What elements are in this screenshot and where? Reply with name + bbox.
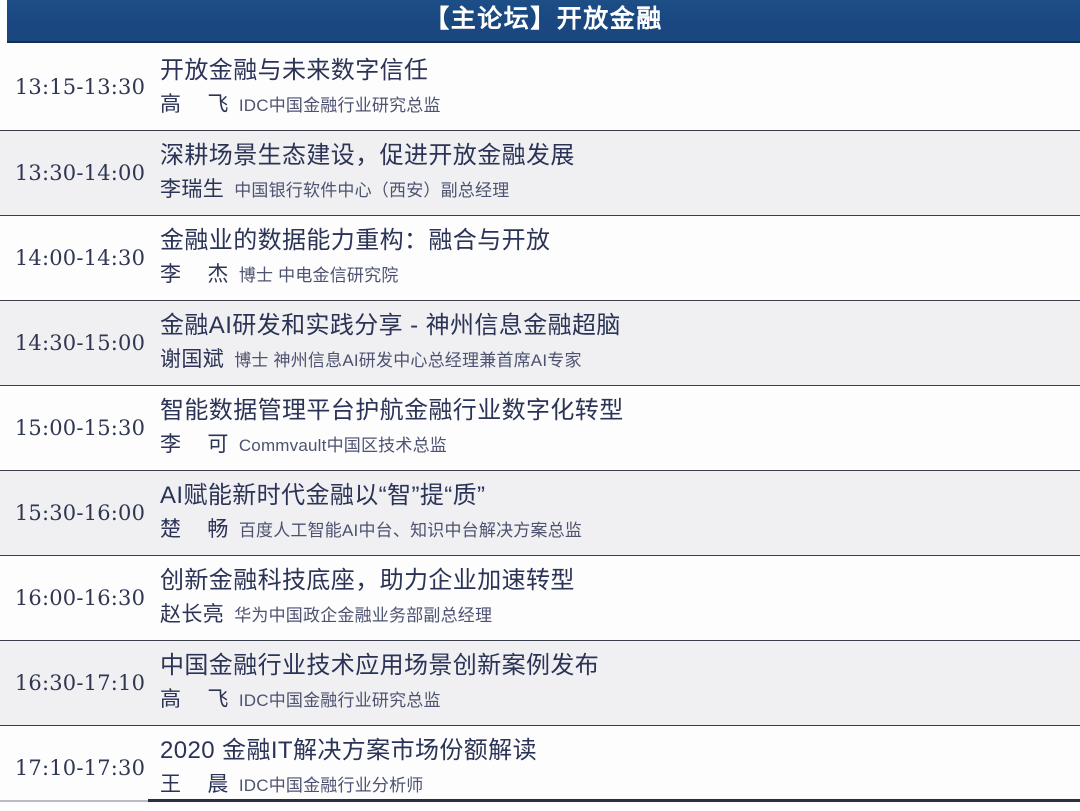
session-people: 李瑞生中国银行软件中心（西安）副总经理 [160,173,1080,203]
speaker-affiliation: 博士 神州信息AI研发中心总经理兼首席AI专家 [234,346,581,371]
speaker-givenname: 飞 [207,93,228,116]
footer-rule-left [0,800,148,802]
agenda-row: 15:00-15:30智能数据管理平台护航金融行业数字化转型李可Commvaul… [0,385,1080,470]
session-info-cell: 金融AI研发和实践分享 - 神州信息金融超脑谢国斌博士 神州信息AI研发中心总经… [160,300,1080,385]
session-info-cell: 中国金融行业技术应用场景创新案例发布高飞IDC中国金融行业研究总监 [160,640,1080,725]
speaker-surname: 楚 [160,518,181,541]
speaker-givenname: 飞 [207,688,228,711]
session-title: AI赋能新时代金融以“智”提“质” [160,482,1080,510]
session-time: 13:15-13:30 [15,75,145,99]
session-time-cell: 13:30-14:00 [0,130,160,215]
speaker-name: 楚畅 [160,513,229,543]
session-people: 李杰博士 中电金信研究院 [160,258,1080,288]
forum-banner-bar: 【主论坛】开放金融 [7,0,1080,43]
agenda-page: 【主论坛】开放金融 13:15-13:30开放金融与未来数字信任高飞IDC中国金… [0,0,1080,811]
speaker-name: 高飞 [160,88,229,118]
speaker-affiliation: 百度人工智能AI中台、知识中台解决方案总监 [239,516,582,541]
speaker-givenname: 杰 [207,263,228,286]
session-time: 15:00-15:30 [15,416,145,440]
session-title: 金融业的数据能力重构：融合与开放 [160,227,1080,255]
session-title: 创新金融科技底座，助力企业加速转型 [160,567,1080,595]
session-title: 深耕场景生态建设，促进开放金融发展 [160,142,1080,170]
speaker-affiliation: IDC中国金融行业分析师 [239,771,424,796]
agenda-row: 13:15-13:30开放金融与未来数字信任高飞IDC中国金融行业研究总监 [0,45,1080,130]
session-people: 赵长亮华为中国政企金融业务部副总经理 [160,598,1080,628]
session-title: 智能数据管理平台护航金融行业数字化转型 [160,397,1080,425]
agenda-table-body: 13:15-13:30开放金融与未来数字信任高飞IDC中国金融行业研究总监13:… [0,45,1080,810]
session-people: 谢国斌博士 神州信息AI研发中心总经理兼首席AI专家 [160,343,1080,373]
session-time: 14:00-14:30 [15,246,145,270]
session-time-cell: 15:30-16:00 [0,470,160,555]
agenda-table: 13:15-13:30开放金融与未来数字信任高飞IDC中国金融行业研究总监13:… [0,45,1080,810]
session-time-cell: 17:10-17:30 [0,725,160,810]
speaker-name: 赵长亮 [160,598,224,628]
forum-banner: 【主论坛】开放金融 [0,0,1080,45]
speaker-affiliation: IDC中国金融行业研究总监 [239,686,441,711]
agenda-row: 14:00-14:30金融业的数据能力重构：融合与开放李杰博士 中电金信研究院 [0,215,1080,300]
session-time: 17:10-17:30 [15,756,145,780]
speaker-name: 高飞 [160,683,229,713]
agenda-row: 16:30-17:10中国金融行业技术应用场景创新案例发布高飞IDC中国金融行业… [0,640,1080,725]
session-info-cell: 创新金融科技底座，助力企业加速转型赵长亮华为中国政企金融业务部副总经理 [160,555,1080,640]
speaker-name: 李可 [160,428,229,458]
session-time-cell: 14:30-15:00 [0,300,160,385]
speaker-affiliation: 博士 中电金信研究院 [239,261,399,286]
agenda-row: 15:30-16:00AI赋能新时代金融以“智”提“质”楚畅百度人工智能AI中台… [0,470,1080,555]
footer-rule-right [148,799,1080,802]
session-info-cell: AI赋能新时代金融以“智”提“质”楚畅百度人工智能AI中台、知识中台解决方案总监 [160,470,1080,555]
session-info-cell: 开放金融与未来数字信任高飞IDC中国金融行业研究总监 [160,45,1080,130]
speaker-affiliation: 华为中国政企金融业务部副总经理 [234,601,492,626]
session-info-cell: 深耕场景生态建设，促进开放金融发展李瑞生中国银行软件中心（西安）副总经理 [160,130,1080,215]
session-title: 2020 金融IT解决方案市场份额解读 [160,737,1080,765]
agenda-row: 17:10-17:302020 金融IT解决方案市场份额解读王晨IDC中国金融行… [0,725,1080,810]
session-time: 13:30-14:00 [15,161,145,185]
agenda-row: 13:30-14:00深耕场景生态建设，促进开放金融发展李瑞生中国银行软件中心（… [0,130,1080,215]
session-time: 15:30-16:00 [15,501,145,525]
agenda-row: 14:30-15:00金融AI研发和实践分享 - 神州信息金融超脑谢国斌博士 神… [0,300,1080,385]
speaker-surname: 高 [160,93,181,116]
session-info-cell: 2020 金融IT解决方案市场份额解读王晨IDC中国金融行业分析师 [160,725,1080,810]
session-info-cell: 智能数据管理平台护航金融行业数字化转型李可Commvault中国区技术总监 [160,385,1080,470]
speaker-name: 王晨 [160,768,229,798]
session-time-cell: 14:00-14:30 [0,215,160,300]
page-title: 【主论坛】开放金融 [424,7,663,32]
session-people: 高飞IDC中国金融行业研究总监 [160,683,1080,713]
session-time-cell: 13:15-13:30 [0,45,160,130]
speaker-name: 李杰 [160,258,229,288]
session-title: 中国金融行业技术应用场景创新案例发布 [160,652,1080,680]
speaker-name: 李瑞生 [160,173,224,203]
session-time-cell: 15:00-15:30 [0,385,160,470]
session-title: 金融AI研发和实践分享 - 神州信息金融超脑 [160,312,1080,340]
footer-rules [0,799,1080,803]
speaker-surname: 王 [160,773,181,796]
speaker-givenname: 畅 [207,518,228,541]
session-time: 14:30-15:00 [15,331,145,355]
speaker-affiliation: 中国银行软件中心（西安）副总经理 [234,176,509,201]
speaker-surname: 高 [160,688,181,711]
speaker-name: 谢国斌 [160,343,224,373]
session-people: 楚畅百度人工智能AI中台、知识中台解决方案总监 [160,513,1080,543]
session-info-cell: 金融业的数据能力重构：融合与开放李杰博士 中电金信研究院 [160,215,1080,300]
session-time: 16:00-16:30 [15,586,145,610]
speaker-givenname: 晨 [207,773,228,796]
session-people: 李可Commvault中国区技术总监 [160,428,1080,458]
speaker-surname: 李 [160,263,181,286]
speaker-affiliation: Commvault中国区技术总监 [239,431,447,456]
session-time-cell: 16:30-17:10 [0,640,160,725]
session-time-cell: 16:00-16:30 [0,555,160,640]
agenda-row: 16:00-16:30创新金融科技底座，助力企业加速转型赵长亮华为中国政企金融业… [0,555,1080,640]
session-people: 王晨IDC中国金融行业分析师 [160,768,1080,798]
session-title: 开放金融与未来数字信任 [160,57,1080,85]
session-people: 高飞IDC中国金融行业研究总监 [160,88,1080,118]
speaker-givenname: 可 [207,433,228,456]
speaker-surname: 李 [160,433,181,456]
speaker-affiliation: IDC中国金融行业研究总监 [239,91,441,116]
session-time: 16:30-17:10 [15,671,145,695]
